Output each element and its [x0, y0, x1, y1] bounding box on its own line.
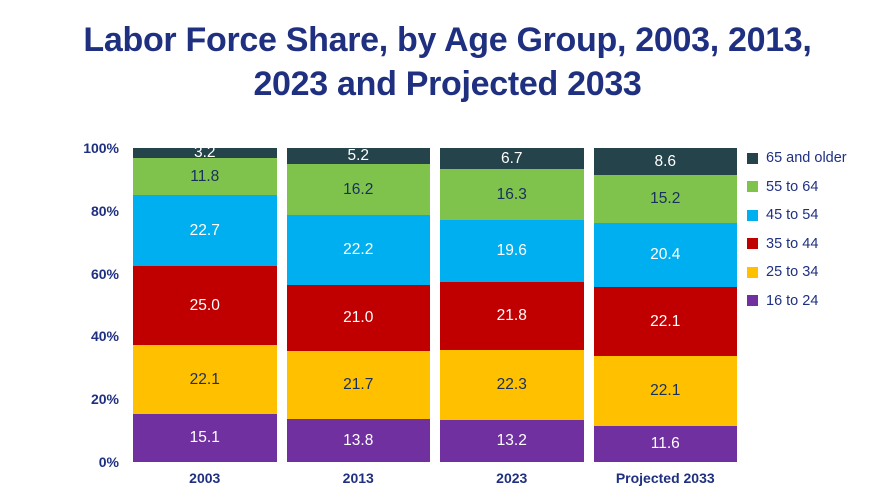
- bar-segment[interactable]: 11.8: [133, 158, 277, 195]
- bar-segment[interactable]: 6.7: [440, 148, 584, 169]
- bar-segment-value: 15.1: [190, 430, 220, 446]
- bar-segment[interactable]: 20.4: [594, 223, 738, 287]
- legend-label: 45 to 54: [766, 207, 818, 223]
- bar-segment[interactable]: 22.1: [594, 356, 738, 425]
- bar-segment[interactable]: 25.0: [133, 266, 277, 345]
- legend-item[interactable]: 35 to 44: [747, 230, 892, 259]
- y-axis-tick: 0%: [99, 454, 119, 470]
- y-axis-tick: 60%: [91, 266, 119, 282]
- bar-segment[interactable]: 22.3: [440, 350, 584, 420]
- bar-column-projected-2033[interactable]: 8.615.220.422.122.111.6: [594, 148, 738, 462]
- bar-segment-value: 22.3: [497, 377, 527, 393]
- legend-item[interactable]: 25 to 34: [747, 258, 892, 287]
- bar-segment-value: 16.3: [497, 187, 527, 203]
- x-axis-tick: Projected 2033: [594, 468, 738, 494]
- y-axis-tick: 40%: [91, 328, 119, 344]
- bar-segment-value: 21.7: [343, 377, 373, 393]
- bar-segment[interactable]: 11.6: [594, 426, 738, 462]
- chart-title-line-1: Labor Force Share, by Age Group, 2003, 2…: [30, 18, 865, 62]
- x-axis-tick: 2013: [287, 468, 431, 494]
- legend-swatch-icon: [747, 267, 758, 278]
- bar-segment-value: 22.1: [190, 372, 220, 388]
- bar-segment-value: 22.1: [650, 383, 680, 399]
- y-axis-tick: 80%: [91, 203, 119, 219]
- chart-root: Labor Force Share, by Age Group, 2003, 2…: [0, 0, 895, 499]
- bar-segment-value: 6.7: [501, 151, 523, 167]
- chart-title: Labor Force Share, by Age Group, 2003, 2…: [30, 18, 865, 106]
- y-axis: 0%20%40%60%80%100%: [60, 148, 126, 462]
- bar-column-2003[interactable]: 3.211.822.725.022.115.1: [133, 148, 277, 462]
- legend-swatch-icon: [747, 153, 758, 164]
- bar-segment[interactable]: 22.1: [594, 287, 738, 356]
- bar-segment-value: 16.2: [343, 182, 373, 198]
- bar-segment[interactable]: 22.7: [133, 195, 277, 266]
- bar-segment-value: 13.2: [497, 433, 527, 449]
- bar-segment-value: 15.2: [650, 191, 680, 207]
- bar-column-2023[interactable]: 6.716.319.621.822.313.2: [440, 148, 584, 462]
- legend-label: 55 to 64: [766, 179, 818, 195]
- legend-label: 65 and older: [766, 150, 847, 166]
- bar-segment[interactable]: 16.3: [440, 169, 584, 220]
- legend-swatch-icon: [747, 295, 758, 306]
- bar-segment[interactable]: 19.6: [440, 220, 584, 282]
- legend-item[interactable]: 16 to 24: [747, 287, 892, 316]
- stacked-bars: 3.211.822.725.022.115.15.216.222.221.021…: [133, 148, 737, 462]
- legend-swatch-icon: [747, 210, 758, 221]
- bar-segment-value: 19.6: [497, 243, 527, 259]
- legend-label: 25 to 34: [766, 264, 818, 280]
- bar-segment[interactable]: 16.2: [287, 164, 431, 215]
- bar-segment-value: 22.1: [650, 314, 680, 330]
- bar-segment[interactable]: 5.2: [287, 148, 431, 164]
- chart-legend: 65 and older55 to 6445 to 5435 to 4425 t…: [747, 144, 892, 315]
- bar-segment-value: 21.8: [497, 308, 527, 324]
- bar-column-2013[interactable]: 5.216.222.221.021.713.8: [287, 148, 431, 462]
- plot-area: 3.211.822.725.022.115.15.216.222.221.021…: [133, 148, 737, 462]
- legend-swatch-icon: [747, 238, 758, 249]
- legend-item[interactable]: 45 to 54: [747, 201, 892, 230]
- bar-segment-value: 25.0: [190, 298, 220, 314]
- x-axis: 200320132023Projected 2033: [133, 468, 737, 494]
- bar-segment[interactable]: 3.2: [133, 148, 277, 158]
- legend-label: 16 to 24: [766, 293, 818, 309]
- y-axis-tick: 100%: [83, 140, 119, 156]
- legend-swatch-icon: [747, 181, 758, 192]
- bar-segment[interactable]: 22.1: [133, 345, 277, 414]
- bar-segment-value: 20.4: [650, 247, 680, 263]
- bar-segment[interactable]: 8.6: [594, 148, 738, 175]
- bar-segment[interactable]: 21.8: [440, 282, 584, 350]
- legend-label: 35 to 44: [766, 236, 818, 252]
- bar-segment[interactable]: 22.2: [287, 215, 431, 285]
- bar-segment-value: 21.0: [343, 310, 373, 326]
- chart-title-line-2: 2023 and Projected 2033: [30, 62, 865, 106]
- bar-segment-value: 13.8: [343, 433, 373, 449]
- x-axis-tick: 2003: [133, 468, 277, 494]
- y-axis-tick: 20%: [91, 391, 119, 407]
- bar-segment[interactable]: 15.2: [594, 175, 738, 223]
- bar-segment-value: 5.2: [347, 148, 369, 164]
- bar-segment[interactable]: 21.0: [287, 285, 431, 351]
- bar-segment-value: 3.2: [194, 148, 216, 158]
- bar-segment-value: 8.6: [654, 154, 676, 170]
- bar-segment[interactable]: 21.7: [287, 351, 431, 419]
- x-axis-tick: 2023: [440, 468, 584, 494]
- bar-segment[interactable]: 13.2: [440, 420, 584, 461]
- legend-item[interactable]: 65 and older: [747, 144, 892, 173]
- bar-segment-value: 11.6: [651, 436, 680, 452]
- bar-segment[interactable]: 13.8: [287, 419, 431, 462]
- legend-item[interactable]: 55 to 64: [747, 173, 892, 202]
- bar-segment[interactable]: 15.1: [133, 414, 277, 461]
- bar-segment-value: 22.7: [190, 223, 220, 239]
- bar-segment-value: 22.2: [343, 242, 373, 258]
- bar-segment-value: 11.8: [190, 169, 219, 185]
